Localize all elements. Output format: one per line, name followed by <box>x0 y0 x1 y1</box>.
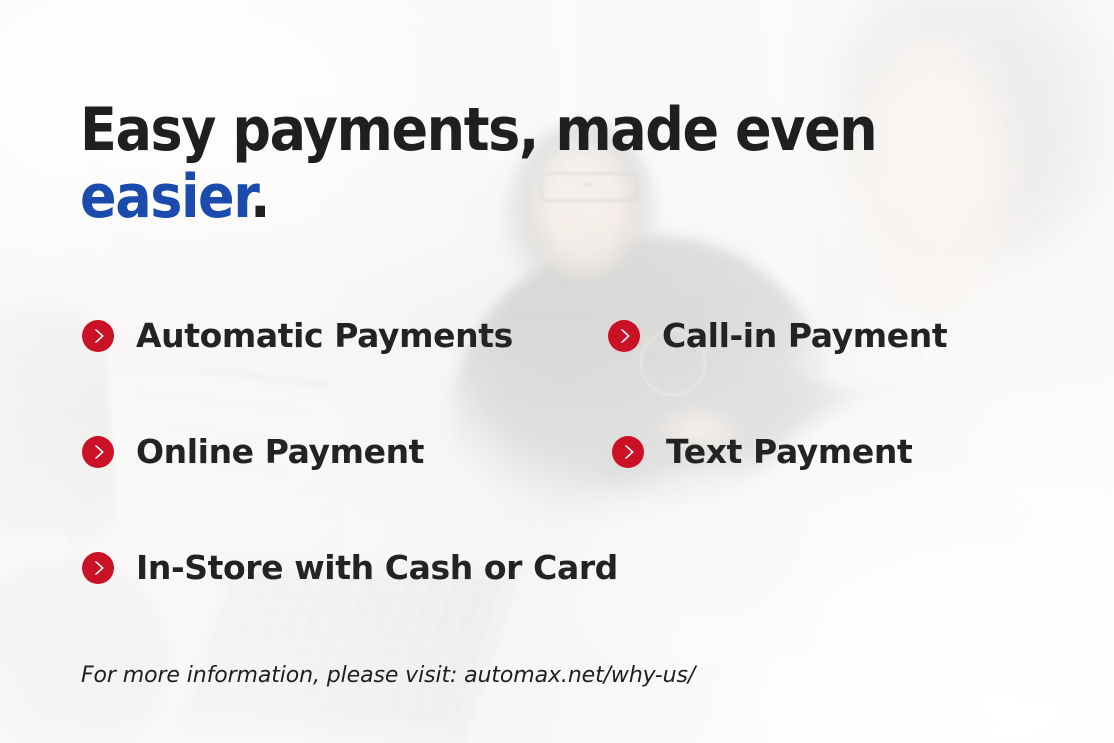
list-item-call-in-payment[interactable]: Call-in Payment <box>608 319 947 352</box>
list-item-label: Call-in Payment <box>662 319 947 352</box>
chevron-right-circle-icon <box>608 320 640 352</box>
headline-period: . <box>250 162 269 232</box>
headline-emphasis-word: easier <box>80 162 250 232</box>
footnote-text[interactable]: For more information, please visit: auto… <box>81 663 695 688</box>
list-item-online-payment[interactable]: Online Payment <box>82 435 424 468</box>
list-item-label: Online Payment <box>136 435 424 468</box>
list-item-label: Text Payment <box>666 435 912 468</box>
list-item-text-payment[interactable]: Text Payment <box>612 435 912 468</box>
list-item-in-store-cash-or-card[interactable]: In-Store with Cash or Card <box>82 551 618 584</box>
banner-content: Easy payments, made even easier. Automat… <box>0 0 1114 743</box>
list-item-label: Automatic Payments <box>136 319 513 352</box>
chevron-right-circle-icon <box>612 436 644 468</box>
promotional-banner: Easy payments, made even easier. Automat… <box>0 0 1114 743</box>
chevron-right-circle-icon <box>82 320 114 352</box>
chevron-right-circle-icon <box>82 436 114 468</box>
page-title: Easy payments, made even easier. <box>80 97 1060 231</box>
headline-line-2: easier. <box>80 164 1060 231</box>
list-item-automatic-payments[interactable]: Automatic Payments <box>82 319 513 352</box>
list-item-label: In-Store with Cash or Card <box>136 551 618 584</box>
chevron-right-circle-icon <box>82 552 114 584</box>
headline-line-1: Easy payments, made even <box>80 97 1060 164</box>
